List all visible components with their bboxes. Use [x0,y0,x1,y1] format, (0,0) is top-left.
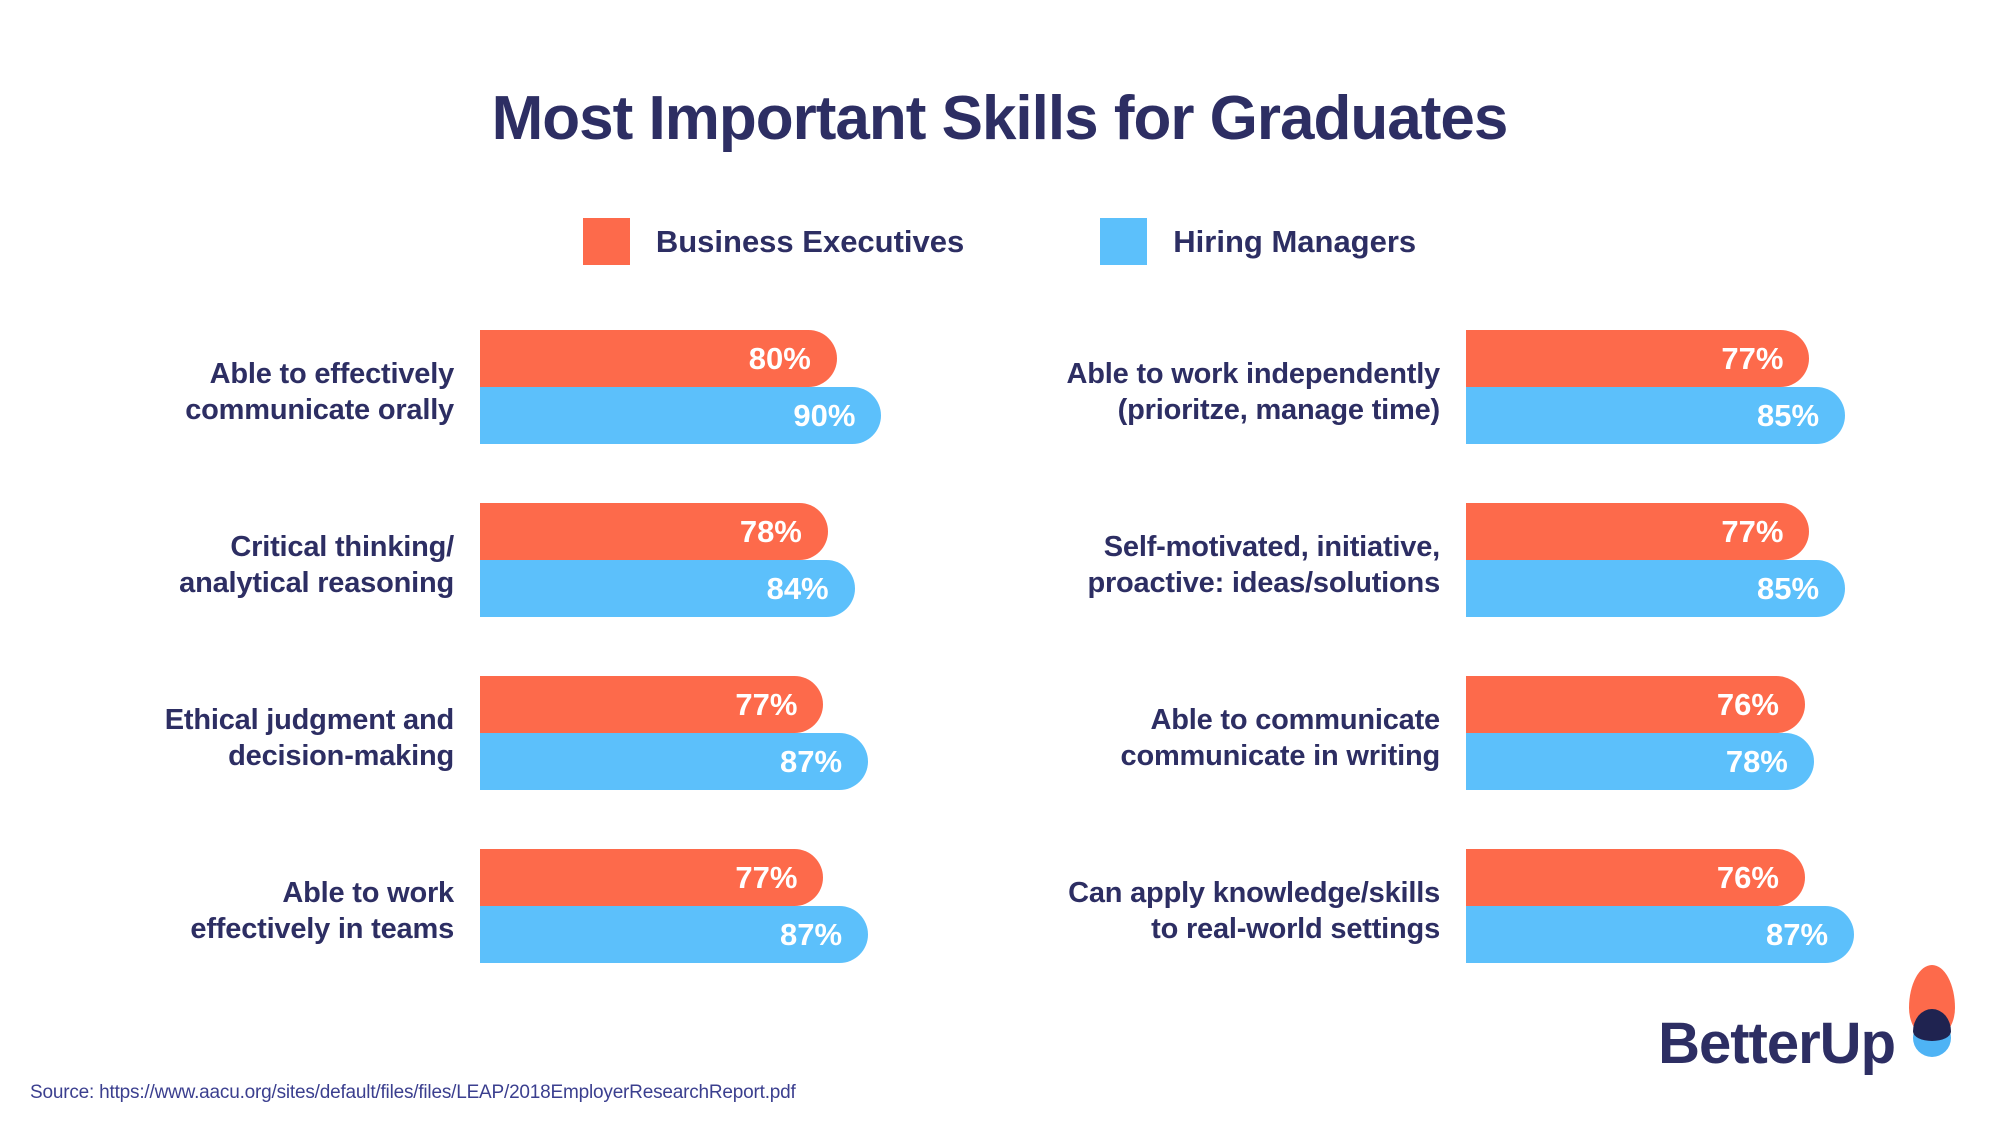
bar-value-label: 90% [793,400,855,431]
table-row: Critical thinking/ analytical reasoning … [20,503,980,628]
bar-pair: 77% 87% [480,676,980,801]
bar-pair: 77% 87% [480,849,980,974]
page-title: Most Important Skills for Graduates [0,88,1999,150]
bar-row-label-line: Self-motivated, initiative, [1006,530,1440,565]
legend-item-business-executives[interactable]: Business Executives [583,218,964,265]
legend-label: Business Executives [656,224,964,260]
bar-value-label: 87% [780,746,842,777]
betterup-balloon-icon [1901,965,1961,1069]
bar-hiring-managers[interactable]: 85% [1466,387,1845,444]
bar-hiring-managers[interactable]: 87% [1466,906,1854,963]
bar-row-label-line: analytical reasoning [20,566,454,601]
bar-row-label: Critical thinking/ analytical reasoning [20,530,480,601]
bar-row-label-line: Ethical judgment and [20,703,454,738]
bar-pair: 76% 78% [1466,676,1966,801]
betterup-logo[interactable]: BetterUp [1658,965,1961,1073]
bar-row-label: Able to effectively communicate orally [20,357,480,428]
legend-label: Hiring Managers [1173,224,1416,260]
source-note: Source: https://www.aacu.org/sites/defau… [30,1082,796,1104]
bar-pair: 77% 85% [1466,330,1966,455]
bar-value-label: 87% [1766,919,1828,950]
bar-value-label: 77% [1721,343,1783,374]
bar-row-label: Self-motivated, initiative, proactive: i… [1006,530,1466,601]
bar-value-label: 76% [1717,689,1779,720]
bar-business-executives[interactable]: 76% [1466,676,1805,733]
bar-value-label: 85% [1757,573,1819,604]
bar-value-label: 77% [1721,516,1783,547]
bar-business-executives[interactable]: 80% [480,330,837,387]
bar-row-label-line: Able to communicate [1006,703,1440,738]
bar-business-executives[interactable]: 77% [480,676,823,733]
bar-row-label: Ethical judgment and decision-making [20,703,480,774]
bar-hiring-managers[interactable]: 90% [480,387,881,444]
bar-row-label-line: Able to effectively [20,357,454,392]
bar-value-label: 78% [740,516,802,547]
bar-business-executives[interactable]: 77% [1466,503,1809,560]
table-row: Able to work effectively in teams 77% 87… [20,849,980,974]
bar-row-label: Able to work independently (prioritze, m… [1006,357,1466,428]
table-row: Ethical judgment and decision-making 77%… [20,676,980,801]
legend-swatch-blue-icon [1100,218,1147,265]
chart-column-left: Able to effectively communicate orally 8… [20,330,980,1022]
logo-wordmark: BetterUp [1658,1015,1895,1073]
bar-row-label: Able to communicate communicate in writi… [1006,703,1466,774]
bar-row-label: Can apply knowledge/skills to real-world… [1006,876,1466,947]
bar-business-executives[interactable]: 78% [480,503,828,560]
bar-row-label-line: effectively in teams [20,912,454,947]
table-row: Able to work independently (prioritze, m… [1006,330,1966,455]
bar-value-label: 87% [780,919,842,950]
bar-row-label-line: proactive: ideas/solutions [1006,566,1440,601]
bar-value-label: 85% [1757,400,1819,431]
bar-hiring-managers[interactable]: 87% [480,733,868,790]
table-row: Able to effectively communicate orally 8… [20,330,980,455]
bar-hiring-managers[interactable]: 84% [480,560,855,617]
bar-pair: 76% 87% [1466,849,1966,974]
bar-hiring-managers[interactable]: 78% [1466,733,1814,790]
bar-row-label-line: decision-making [20,739,454,774]
table-row: Can apply knowledge/skills to real-world… [1006,849,1966,974]
chart-column-right: Able to work independently (prioritze, m… [1006,330,1966,1022]
bar-value-label: 76% [1717,862,1779,893]
bar-business-executives[interactable]: 77% [1466,330,1809,387]
bar-row-label-line: Can apply knowledge/skills [1006,876,1440,911]
bar-pair: 80% 90% [480,330,980,455]
bar-row-label-line: communicate orally [20,393,454,428]
bar-row-label-line: Able to work independently [1006,357,1440,392]
legend-swatch-orange-icon [583,218,630,265]
bar-row-label-line: communicate in writing [1006,739,1440,774]
bar-hiring-managers[interactable]: 87% [480,906,868,963]
bar-row-label-line: Able to work [20,876,454,911]
bar-pair: 78% 84% [480,503,980,628]
table-row: Able to communicate communicate in writi… [1006,676,1966,801]
chart-legend: Business Executives Hiring Managers [0,218,1999,265]
bar-value-label: 84% [767,573,829,604]
table-row: Self-motivated, initiative, proactive: i… [1006,503,1966,628]
bar-business-executives[interactable]: 76% [1466,849,1805,906]
bar-pair: 77% 85% [1466,503,1966,628]
bar-value-label: 78% [1726,746,1788,777]
bar-value-label: 77% [735,689,797,720]
bar-value-label: 77% [735,862,797,893]
bar-row-label-line: Critical thinking/ [20,530,454,565]
legend-item-hiring-managers[interactable]: Hiring Managers [1100,218,1416,265]
bar-row-label-line: (prioritze, manage time) [1006,393,1440,428]
bar-business-executives[interactable]: 77% [480,849,823,906]
bar-row-label: Able to work effectively in teams [20,876,480,947]
bar-row-label-line: to real-world settings [1006,912,1440,947]
bar-hiring-managers[interactable]: 85% [1466,560,1845,617]
bar-value-label: 80% [749,343,811,374]
